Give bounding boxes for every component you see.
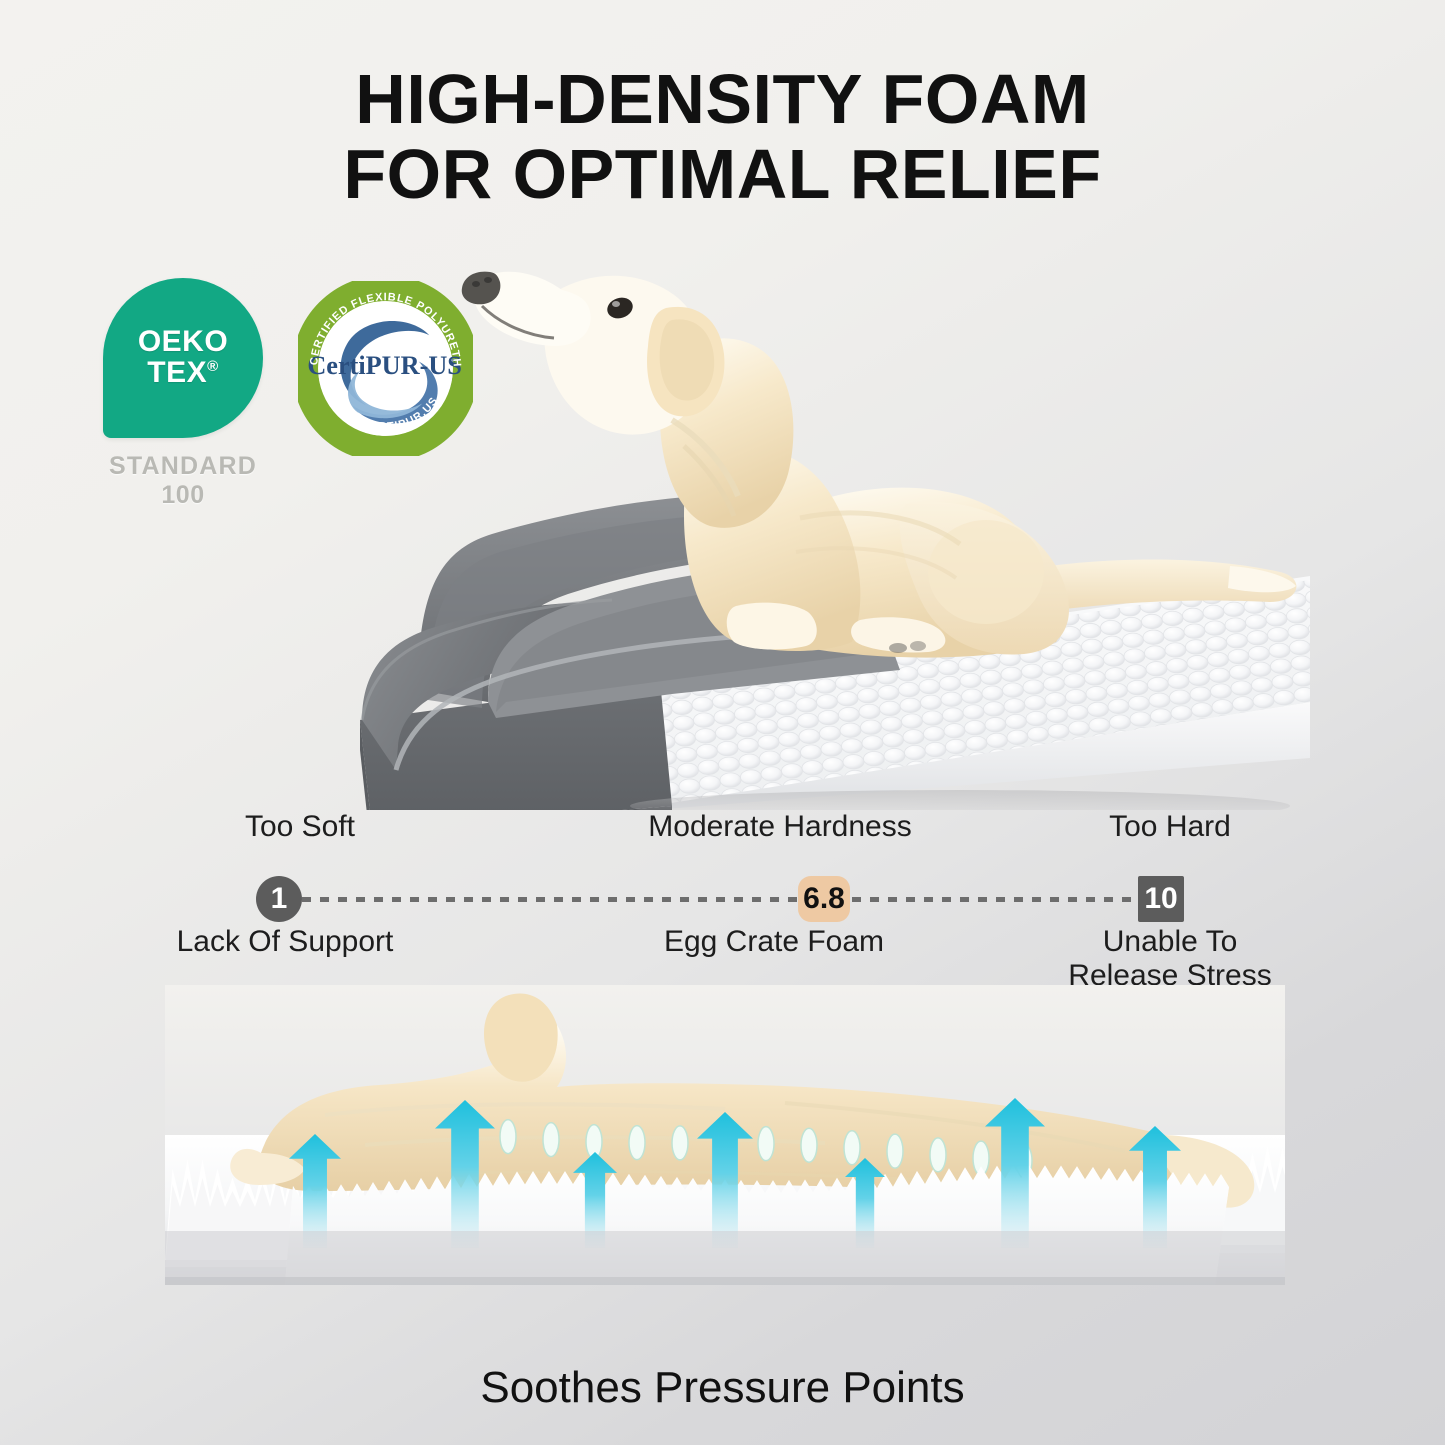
scale-label-moderate-hardness: Moderate Hardness [550,810,1010,844]
oeko-tex-badge: OEKO TEX® STANDARD 100 [103,278,263,509]
oeko-tex-line-2: TEX® [147,358,218,389]
scale-label-too-soft: Too Soft [180,810,420,844]
oeko-tex-droplet-icon: OEKO TEX® [103,278,263,438]
oeko-tex-line-1: OEKO [138,327,228,358]
page-title: HIGH-DENSITY FOAM FOR OPTIMAL RELIEF [0,62,1445,212]
scale-marker-value[interactable]: 6.8 [798,876,850,922]
scale-sublabel-unable-to-release-stress: Unable To Release Stress [1030,925,1310,992]
hardness-scale-track: 1 6.8 10 [150,876,1310,922]
scale-dash-left [302,897,800,902]
page-title-line-2: FOR OPTIMAL RELIEF [0,137,1445,212]
scale-label-too-hard: Too Hard [1030,810,1310,844]
page-title-line-1: HIGH-DENSITY FOAM [0,62,1445,137]
oeko-tex-standard-word: STANDARD [109,452,257,480]
caption-soothes-pressure-points: Soothes Pressure Points [0,1363,1445,1413]
hardness-scale: Too Soft Moderate Hardness Too Hard 1 6.… [150,810,1310,990]
oeko-tex-standard-number: 100 [103,481,263,510]
hardness-scale-top-labels: Too Soft Moderate Hardness Too Hard [150,810,1310,852]
scale-sublabel-lack-of-support: Lack Of Support [135,925,435,959]
scale-marker-min[interactable]: 1 [256,876,302,922]
dog-on-bolster-bed-photo [300,250,1310,810]
scale-sublabel-right-line-1: Unable To [1103,925,1238,958]
scale-dash-right [852,897,1142,902]
scale-marker-max[interactable]: 10 [1138,876,1184,922]
scale-sublabel-egg-crate-foam: Egg Crate Foam [584,925,964,959]
oeko-tex-standard-label: STANDARD 100 [103,452,263,509]
dog-lying-on-foam-photo [165,985,1285,1340]
